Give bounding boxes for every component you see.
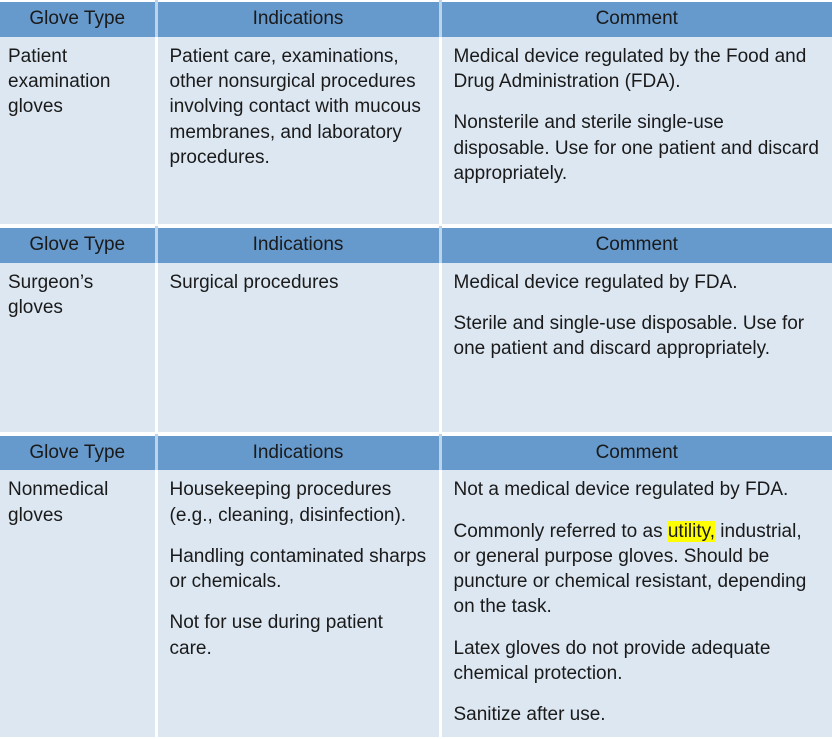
column-header-glove-type: Glove Type — [0, 435, 156, 471]
comment-paragraph: Not a medical device regulated by FDA. — [454, 477, 821, 502]
column-header-glove-type: Glove Type — [0, 1, 156, 37]
table-row: Patient examination gloves Patient care,… — [0, 37, 832, 225]
cell-indications: Surgical procedures — [156, 263, 440, 433]
table-header-row: Glove Type Indications Comment — [0, 1, 832, 37]
glove-table-patient-examination: Glove Type Indications Comment Patient e… — [0, 0, 832, 226]
comment-paragraph: Nonsterile and sterile single-use dispos… — [454, 110, 821, 186]
column-header-indications: Indications — [156, 1, 440, 37]
cell-glove-type: Patient examination gloves — [0, 37, 156, 225]
table-header-row: Glove Type Indications Comment — [0, 227, 832, 263]
indications-paragraph: Surgical procedures — [170, 270, 427, 295]
cell-indications: Housekeeping procedures (e.g., cleaning,… — [156, 470, 440, 738]
column-header-indications: Indications — [156, 227, 440, 263]
column-header-comment: Comment — [440, 227, 832, 263]
indications-paragraph: Patient care, examinations, other nonsur… — [170, 44, 427, 170]
cell-comment: Medical device regulated by FDA. Sterile… — [440, 263, 832, 433]
comment-paragraph-highlighted: Commonly referred to as utility, industr… — [454, 519, 821, 620]
comment-paragraph: Latex gloves do not provide adequate che… — [454, 636, 821, 687]
indications-paragraph: Not for use during patient care. — [170, 610, 427, 661]
table-header-row: Glove Type Indications Comment — [0, 435, 832, 471]
cell-comment: Not a medical device regulated by FDA. C… — [440, 470, 832, 738]
column-header-comment: Comment — [440, 1, 832, 37]
column-header-glove-type: Glove Type — [0, 227, 156, 263]
table-row: Surgeon’s gloves Surgical procedures Med… — [0, 263, 832, 433]
comment-paragraph: Medical device regulated by FDA. — [454, 270, 821, 295]
glove-table-surgeons: Glove Type Indications Comment Surgeon’s… — [0, 226, 832, 434]
cell-glove-type: Nonmedical gloves — [0, 470, 156, 738]
highlighted-term: utility, — [668, 521, 715, 542]
comment-paragraph: Sterile and single-use disposable. Use f… — [454, 311, 821, 362]
table-row: Nonmedical gloves Housekeeping procedure… — [0, 470, 832, 738]
comment-paragraph: Sanitize after use. — [454, 702, 821, 727]
cell-glove-type: Surgeon’s gloves — [0, 263, 156, 433]
comment-text-before-highlight: Commonly referred to as — [454, 521, 668, 542]
cell-indications: Patient care, examinations, other nonsur… — [156, 37, 440, 225]
glove-table-nonmedical: Glove Type Indications Comment Nonmedica… — [0, 434, 832, 739]
glove-table-document: Glove Type Indications Comment Patient e… — [0, 0, 832, 716]
column-header-indications: Indications — [156, 435, 440, 471]
indications-paragraph: Housekeeping procedures (e.g., cleaning,… — [170, 477, 427, 528]
comment-paragraph: Medical device regulated by the Food and… — [454, 44, 821, 95]
indications-paragraph: Handling contaminated sharps or chemical… — [170, 544, 427, 595]
column-header-comment: Comment — [440, 435, 832, 471]
cell-comment: Medical device regulated by the Food and… — [440, 37, 832, 225]
